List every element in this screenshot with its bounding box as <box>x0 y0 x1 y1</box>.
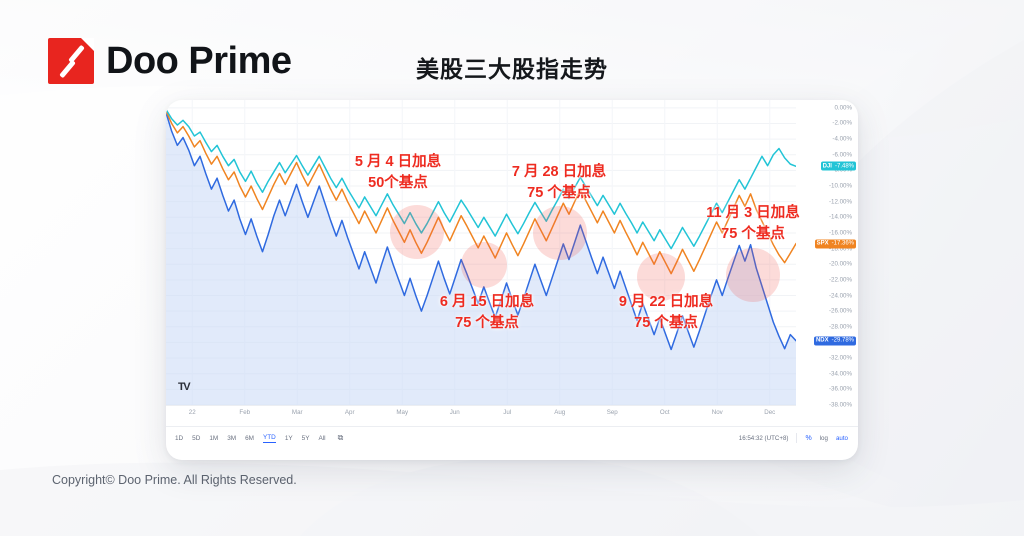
chart-x-axis[interactable]: 22FebMarAprMayJunJulAugSepOctNovDec <box>166 405 796 426</box>
y-tick-label: -32.00% <box>829 355 852 362</box>
x-tick-label: Aug <box>554 409 565 416</box>
timeframe-1d[interactable]: 1D <box>175 435 183 442</box>
annotation-line-2: 50个基点 <box>355 173 441 194</box>
y-tick-label: -22.00% <box>829 276 852 283</box>
annotation-line-1: 5 月 4 日加息 <box>355 154 441 170</box>
x-tick-label: Mar <box>292 409 303 416</box>
annotation-hike-jul-28: 7 月 28 日加息75 个基点 <box>512 162 606 204</box>
chart-line-dji <box>166 109 796 248</box>
timeframe-1m[interactable]: 1M <box>209 435 218 442</box>
y-tick-label: -16.00% <box>829 229 852 236</box>
annotation-hike-may-4: 5 月 4 日加息50个基点 <box>355 152 441 194</box>
price-tag-ndx[interactable]: NDX-29.78% <box>814 336 856 345</box>
x-tick-label: Apr <box>345 409 355 416</box>
annotation-line-1: 9 月 22 日加息 <box>619 294 713 310</box>
chart-card: 0.00%-2.00%-4.00%-6.00%-8.00%-10.00%-12.… <box>166 100 858 460</box>
x-tick-label: 22 <box>189 409 196 416</box>
timeframe-6m[interactable]: 6M <box>245 435 254 442</box>
annotation-hike-sep-22: 9 月 22 日加息75 个基点 <box>619 292 713 334</box>
chart-toolbar: 1D5D1M3M6MYTD1Y5YAll ⧉ 16:54:32 (UTC+8) … <box>166 426 858 449</box>
annotation-line-2: 75 个基点 <box>440 313 534 334</box>
event-highlight-hike-jun-15 <box>461 242 507 288</box>
annotation-line-1: 11 月 3 日加息 <box>706 205 799 221</box>
annotation-hike-jun-15: 6 月 15 日加息75 个基点 <box>440 292 534 334</box>
price-tag-symbol: SPX <box>817 241 829 247</box>
timeframe-3m[interactable]: 3M <box>227 435 236 442</box>
chart-clock: 16:54:32 (UTC+8) <box>739 435 789 442</box>
y-tick-label: -14.00% <box>829 214 852 221</box>
chart-plot-area <box>166 100 796 405</box>
event-highlight-hike-may-4 <box>390 205 444 259</box>
y-tick-label: -4.00% <box>832 136 852 143</box>
price-tag-dji[interactable]: DJI-7.48% <box>821 162 856 171</box>
chart-y-axis[interactable]: 0.00%-2.00%-4.00%-6.00%-8.00%-10.00%-12.… <box>796 100 858 405</box>
x-tick-label: Jul <box>503 409 511 416</box>
y-tick-label: -24.00% <box>829 292 852 299</box>
compare-symbol-icon[interactable]: ⧉ <box>338 433 344 443</box>
timeframe-5d[interactable]: 5D <box>192 435 200 442</box>
y-tick-label: -26.00% <box>829 308 852 315</box>
price-tag-spx[interactable]: SPX-17.36% <box>815 239 856 248</box>
y-tick-label: -38.00% <box>829 402 852 409</box>
log-scale-toggle[interactable]: log <box>820 435 828 442</box>
event-highlight-hike-nov-3 <box>726 248 780 302</box>
toolbar-divider <box>796 433 797 443</box>
y-tick-label: -28.00% <box>829 323 852 330</box>
y-tick-label: -6.00% <box>832 151 852 158</box>
annotation-line-2: 75 个基点 <box>706 224 799 245</box>
timeframe-1y[interactable]: 1Y <box>285 435 293 442</box>
x-tick-label: Sep <box>607 409 618 416</box>
x-tick-label: Jun <box>450 409 460 416</box>
y-tick-label: -34.00% <box>829 370 852 377</box>
price-tag-value: -7.48% <box>835 163 854 169</box>
price-tag-value: -17.36% <box>832 241 854 247</box>
y-tick-label: -36.00% <box>829 386 852 393</box>
event-highlight-hike-jul-28 <box>533 206 587 260</box>
annotation-line-1: 7 月 28 日加息 <box>512 164 606 180</box>
x-tick-label: May <box>396 409 408 416</box>
percent-scale-toggle[interactable]: % <box>805 435 811 442</box>
x-tick-label: Dec <box>764 409 775 416</box>
y-tick-label: -12.00% <box>829 198 852 205</box>
x-tick-label: Feb <box>239 409 250 416</box>
price-tag-symbol: NDX <box>816 338 829 344</box>
page-title: 美股三大股指走势 <box>0 50 1024 84</box>
tradingview-logo-icon: TV <box>178 381 189 393</box>
price-tag-symbol: DJI <box>823 163 832 169</box>
price-tag-value: -29.78% <box>832 338 854 344</box>
auto-scale-toggle[interactable]: auto <box>836 435 848 442</box>
x-tick-label: Oct <box>660 409 670 416</box>
annotation-line-1: 6 月 15 日加息 <box>440 294 534 310</box>
y-tick-label: -2.00% <box>832 120 852 127</box>
y-tick-label: -20.00% <box>829 261 852 268</box>
timeframe-all[interactable]: All <box>318 435 325 442</box>
x-tick-label: Nov <box>712 409 723 416</box>
y-tick-label: -10.00% <box>829 183 852 190</box>
timeframe-ytd[interactable]: YTD <box>263 434 276 443</box>
y-tick-label: 0.00% <box>834 104 852 111</box>
annotation-line-2: 75 个基点 <box>512 183 606 204</box>
copyright-text: Copyright© Doo Prime. All Rights Reserve… <box>52 473 297 487</box>
timeframe-5y[interactable]: 5Y <box>302 435 310 442</box>
annotation-hike-nov-3: 11 月 3 日加息75 个基点 <box>706 203 799 245</box>
annotation-line-2: 75 个基点 <box>619 313 713 334</box>
